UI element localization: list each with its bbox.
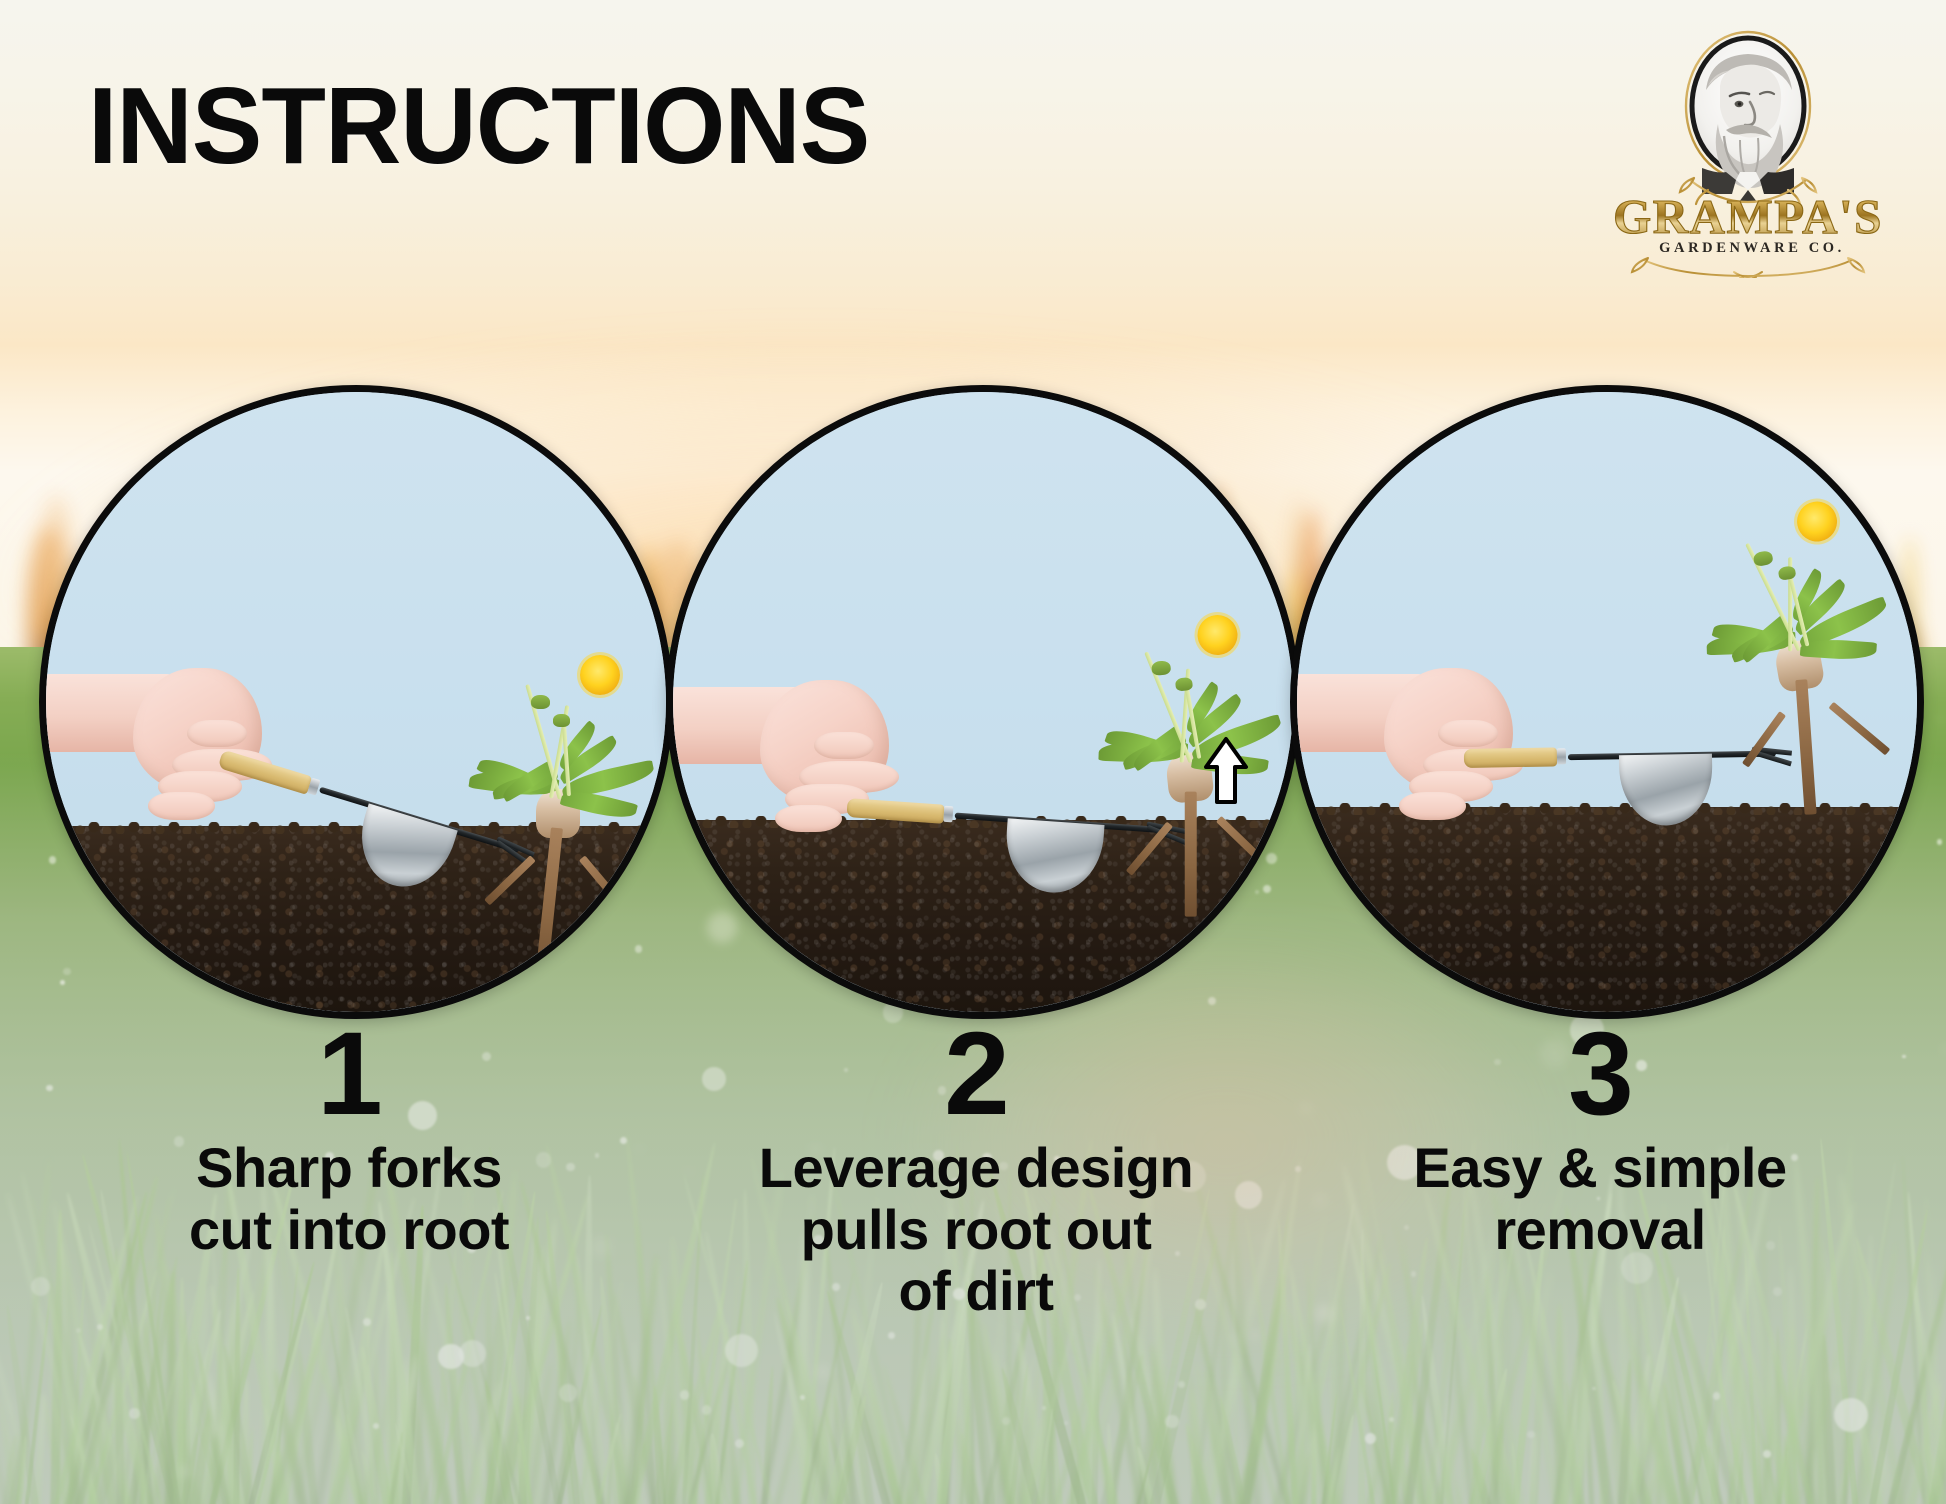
instructions-poster: INSTRUCTIONS [0,0,1946,1504]
soil-bed [1290,807,1924,1012]
gardener-hand [1309,665,1557,826]
step-caption-3: 3Easy & simpleremoval [1300,1018,1900,1260]
step-description-line: removal [1300,1199,1900,1261]
step-description-line: of dirt [666,1260,1286,1322]
step-panel-1 [39,385,659,1005]
step-number: 2 [666,1018,1286,1131]
dandelion-flower [580,655,620,695]
thumb [814,732,874,759]
dandelion-flower [1196,613,1240,657]
step-number: 1 [69,1018,629,1131]
step-description: Easy & simpleremoval [1300,1137,1900,1260]
dandelion-plant [455,640,673,888]
thumb [1438,720,1498,747]
thumb [187,720,247,747]
step-image-2 [666,385,1300,1019]
finger-ring [1399,792,1466,819]
step-description-line: Leverage design [666,1137,1286,1199]
step-description-line: Easy & simple [1300,1137,1900,1199]
gardener-hand [58,665,306,826]
dandelion-bud-1 [1151,659,1171,675]
step-image-3 [1290,385,1924,1019]
step-caption-2: 2Leverage designpulls root outof dirt [666,1018,1286,1322]
step-number: 3 [1300,1018,1900,1131]
step-description: Leverage designpulls root outof dirt [666,1137,1286,1322]
tool-ferrule [1557,748,1566,764]
dandelion-bud-1 [1752,550,1773,568]
tool-wooden-handle [1464,747,1557,768]
dandelion-bud-2 [1777,566,1796,582]
steps-container: 1Sharp forkscut into root2Leverage desig… [0,0,1946,1504]
step-panel-3 [1290,385,1910,1005]
dandelion-flower [1793,498,1840,545]
tool-ferrule [943,806,953,823]
dandelion-bud-2 [553,714,570,727]
dandelion-bud-2 [1175,677,1193,692]
finger-ring [775,805,842,832]
dandelion-plant [1070,592,1300,862]
step-description-line: pulls root out [666,1199,1286,1261]
step-description: Sharp forkscut into root [69,1137,629,1260]
step-panel-2 [666,385,1286,1005]
dandelion-plant [1668,474,1924,757]
dandelion-taproot [1185,792,1197,917]
step-description-line: Sharp forks [69,1137,629,1199]
finger-ring [148,792,215,819]
upward-arrow-icon [1203,736,1249,806]
dandelion-bud-1 [531,695,550,710]
step-caption-1: 1Sharp forkscut into root [69,1018,629,1260]
step-description-line: cut into root [69,1199,629,1261]
step-image-1 [39,385,673,1019]
